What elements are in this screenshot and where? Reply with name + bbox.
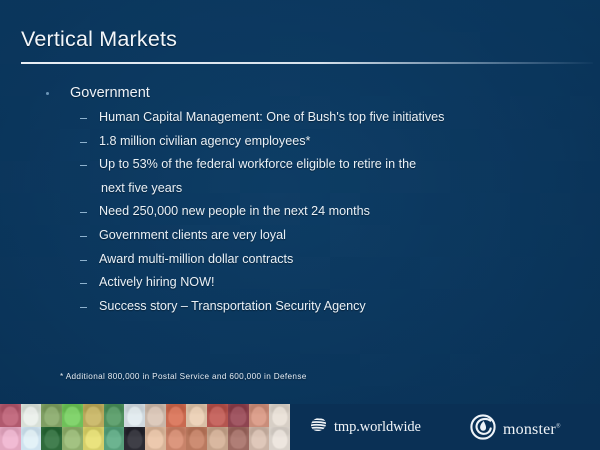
photo-tile: [124, 427, 145, 450]
bullet-dash-icon: [80, 142, 87, 143]
photo-tile-face: [3, 407, 18, 426]
photo-tile: [186, 404, 207, 427]
bullet-dash-icon: [80, 212, 87, 213]
photo-tile: [228, 427, 249, 450]
photo-tile-face: [44, 430, 59, 449]
photo-tile: [83, 404, 104, 427]
photo-tile-face: [189, 430, 204, 449]
bullet-level2-label: Success story – Transportation Security …: [99, 299, 366, 313]
bullet-level2: Award multi-million dollar contracts: [80, 252, 293, 266]
photo-collage-strip: [0, 404, 290, 450]
photo-tile-face: [86, 407, 101, 426]
bullet-level2-label: Government clients are very loyal: [99, 228, 286, 242]
bullet-level2: 1.8 million civilian agency employees*: [80, 134, 310, 148]
photo-tile: [41, 427, 62, 450]
photo-tile: [228, 404, 249, 427]
photo-tile-face: [148, 430, 163, 449]
photo-tile-face: [23, 407, 38, 426]
tmp-worldwide-logo: tmp.worldwide: [310, 417, 421, 437]
photo-tile-face: [3, 430, 18, 449]
bullet-dash-icon: [80, 118, 87, 119]
monster-wordmark-text: monster: [503, 421, 556, 438]
photo-tile: [207, 404, 228, 427]
bullet-level2: Government clients are very loyal: [80, 228, 286, 242]
photo-tile-face: [189, 407, 204, 426]
photo-tile-face: [106, 407, 121, 426]
bullet-level2-label: Actively hiring NOW!: [99, 275, 214, 289]
bullet-dash-icon: [80, 283, 87, 284]
photo-tile-face: [231, 407, 246, 426]
photo-tile-face: [210, 430, 225, 449]
bullet-level2-label: Human Capital Management: One of Bush's …: [99, 110, 444, 124]
photo-tile: [62, 404, 83, 427]
photo-tile: [21, 404, 42, 427]
slide-content: Vertical Markets GovernmentHuman Capital…: [0, 0, 600, 450]
bullet-level2: Actively hiring NOW!: [80, 275, 214, 289]
bullet-dash-icon: [80, 260, 87, 261]
photo-tile-face: [23, 430, 38, 449]
swirl-circle-icon: [470, 414, 496, 445]
bullet-level2: Up to 53% of the federal workforce eligi…: [80, 157, 416, 171]
monster-wordmark: monster®: [503, 421, 561, 439]
photo-tile: [145, 404, 166, 427]
photo-tile: [21, 427, 42, 450]
photo-tile-face: [251, 407, 266, 426]
photo-tile: [41, 404, 62, 427]
bullet-level2-label: Need 250,000 new people in the next 24 m…: [99, 204, 370, 218]
bullet-level2-label: next five years: [101, 181, 182, 195]
tmp-worldwide-wordmark: tmp.worldwide: [334, 419, 421, 436]
photo-tile-face: [127, 407, 142, 426]
photo-tile-face: [106, 430, 121, 449]
photo-tile: [83, 427, 104, 450]
photo-tile-face: [168, 430, 183, 449]
photo-tile: [269, 404, 290, 427]
bullet-level2-label: Award multi-million dollar contracts: [99, 252, 293, 266]
photo-tile: [207, 427, 228, 450]
photo-tile: [249, 404, 270, 427]
photo-tile-face: [65, 430, 80, 449]
photo-tile: [124, 404, 145, 427]
photo-tile: [249, 427, 270, 450]
striped-globe-icon: [310, 417, 327, 437]
photo-tile-face: [148, 407, 163, 426]
bullet-level2: Success story – Transportation Security …: [80, 299, 366, 313]
slide-footer: tmp.worldwide monster®: [0, 404, 600, 450]
photo-tile: [145, 427, 166, 450]
photo-tile-face: [210, 407, 225, 426]
photo-tile-face: [44, 407, 59, 426]
photo-tile: [186, 427, 207, 450]
photo-tile: [104, 404, 125, 427]
bullet-level1-label: Government: [70, 85, 150, 101]
photo-tile-face: [272, 430, 287, 449]
footer-logos: tmp.worldwide monster®: [290, 404, 600, 450]
photo-tile-face: [272, 407, 287, 426]
bullet-dot-icon: [46, 92, 49, 95]
photo-tile: [0, 404, 21, 427]
bullet-level2: Human Capital Management: One of Bush's …: [80, 110, 444, 124]
bullet-dash-icon: [80, 236, 87, 237]
photo-tile: [62, 427, 83, 450]
photo-tile-face: [251, 430, 266, 449]
title-divider-rule: [21, 62, 593, 64]
bullet-level2: Need 250,000 new people in the next 24 m…: [80, 204, 370, 218]
bullet-dash-icon: [80, 165, 87, 166]
slide-title: Vertical Markets: [21, 27, 177, 52]
monster-trademark-symbol: ®: [556, 423, 561, 429]
bullet-dash-icon: [80, 307, 87, 308]
photo-tile: [166, 427, 187, 450]
photo-tile-face: [231, 430, 246, 449]
bullet-level2-label: Up to 53% of the federal workforce eligi…: [99, 157, 416, 171]
photo-tile: [166, 404, 187, 427]
photo-tile-face: [86, 430, 101, 449]
photo-tile-face: [168, 407, 183, 426]
bullet-level1: Government: [46, 85, 150, 101]
bullet-level2: next five years: [80, 181, 182, 195]
bullet-level2-label: 1.8 million civilian agency employees*: [99, 134, 310, 148]
photo-tile-face: [65, 407, 80, 426]
monster-logo: monster®: [470, 414, 561, 445]
presentation-slide: Vertical Markets GovernmentHuman Capital…: [0, 0, 600, 450]
slide-footnote: * Additional 800,000 in Postal Service a…: [60, 372, 307, 381]
photo-tile: [269, 427, 290, 450]
photo-tile: [104, 427, 125, 450]
photo-tile-face: [127, 430, 142, 449]
photo-tile: [0, 427, 21, 450]
